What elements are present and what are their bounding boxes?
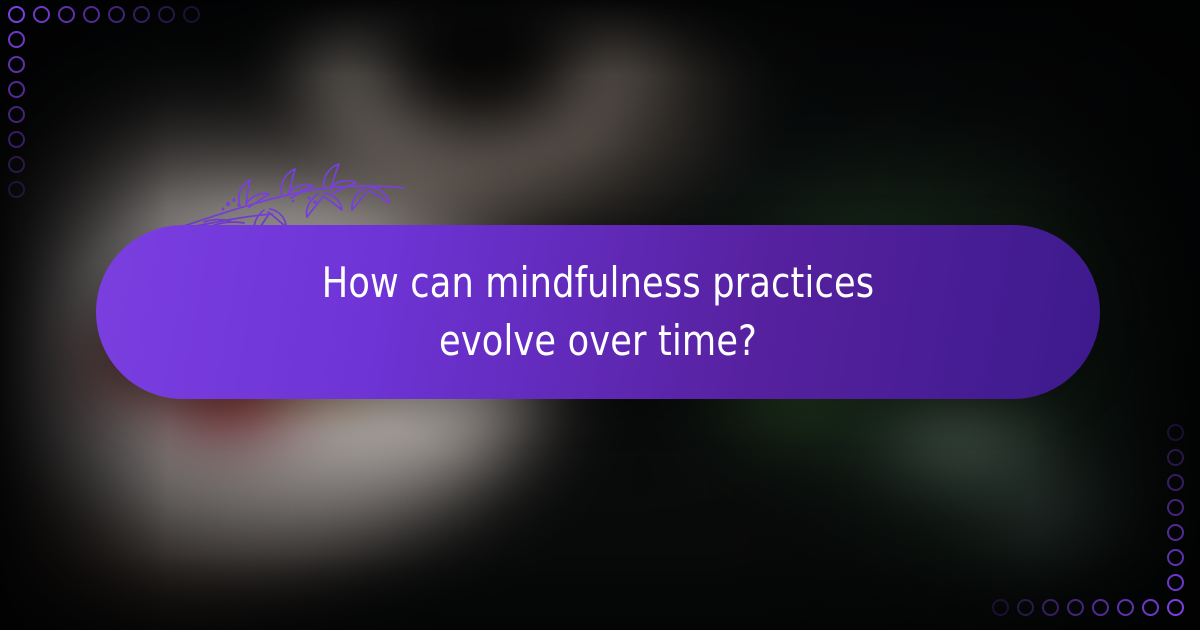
quote-pill-banner: How can mindfulness practices evolve ove… bbox=[96, 225, 1100, 399]
quote-text: How can mindfulness practices evolve ove… bbox=[245, 254, 952, 370]
quote-card: How can mindfulness practices evolve ove… bbox=[0, 0, 1200, 630]
